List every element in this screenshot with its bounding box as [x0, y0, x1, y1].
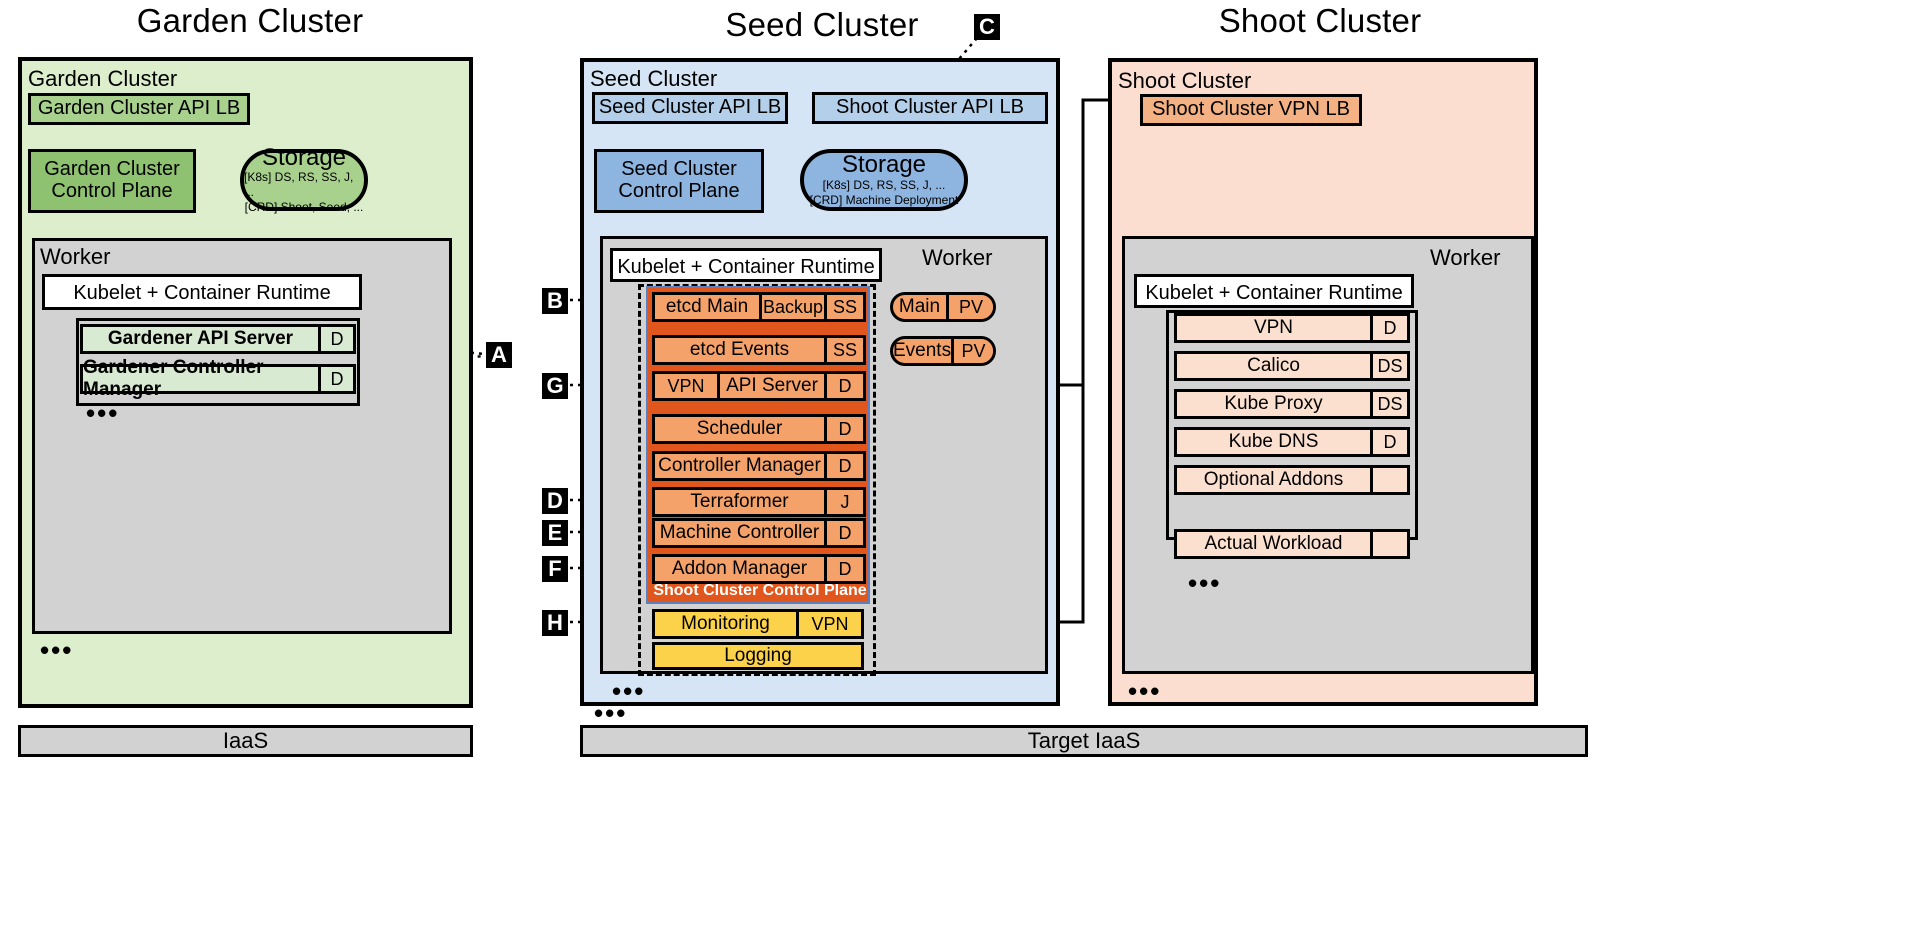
seed-pod-name: Machine Controller — [655, 521, 824, 545]
shoot-pod-row-kube-dns[interactable]: Kube DNS D — [1174, 427, 1410, 457]
shoot-control-plane-caption: Shoot Cluster Control Plane — [648, 582, 872, 600]
seed-volume-events[interactable]: Events PV — [890, 336, 996, 366]
seed-volume-name: Events — [893, 339, 951, 363]
seed-storage-title: Storage — [842, 152, 926, 177]
callout-tag-c[interactable]: C — [974, 14, 1000, 40]
shoot-pod-row-kube-proxy[interactable]: Kube Proxy DS — [1174, 389, 1410, 419]
seed-worker-label: Worker — [922, 245, 993, 271]
garden-storage-title: Storage — [262, 145, 346, 170]
seed-volume-main[interactable]: Main PV — [890, 292, 996, 322]
seed-iaas-bar: Target IaaS — [580, 725, 1588, 757]
seed-pod-row-controller-manager[interactable]: Controller Manager D — [652, 451, 866, 481]
shoot-cluster-more-dots: ••• — [1128, 686, 1161, 696]
garden-pod-more-dots: ••• — [86, 408, 119, 418]
page-title-garden: Garden Cluster — [20, 2, 480, 40]
garden-iaas-bar: IaaS — [18, 725, 473, 757]
seed-pod-row-scheduler[interactable]: Scheduler D — [652, 414, 866, 444]
seed-storage-line1: [K8s] DS, RS, SS, J, ... — [823, 178, 946, 193]
garden-control-plane-line1: Garden Cluster — [44, 159, 180, 181]
seed-pod-name: Addon Manager — [655, 557, 824, 581]
seed-volume-name: Main — [893, 295, 946, 319]
shoot-pod-kind-chip: DS — [1370, 354, 1407, 378]
garden-api-lb[interactable]: Garden Cluster API LB — [28, 93, 250, 125]
seed-storage-line2: [CRD] Machine Deployment — [810, 193, 959, 208]
callout-tag-a[interactable]: A — [486, 342, 512, 368]
garden-pod-name: Gardener Controller Manager — [83, 367, 318, 391]
seed-api-lb[interactable]: Seed Cluster API LB — [592, 92, 788, 124]
garden-control-plane-line2: Control Plane — [51, 181, 172, 203]
shoot-pod-row-optional-addons[interactable]: Optional Addons — [1174, 465, 1410, 495]
seed-pod-row-api-server[interactable]: VPN API Server D — [652, 371, 866, 401]
seed-pod-row-logging[interactable]: Logging — [652, 642, 864, 670]
seed-pod-row-addon-manager[interactable]: Addon Manager D — [652, 554, 866, 584]
seed-pod-kind-chip: D — [824, 454, 863, 478]
seed-pod-kind-chip: D — [824, 417, 863, 441]
seed-cluster-label: Seed Cluster — [590, 68, 717, 90]
callout-tag-e[interactable]: E — [542, 520, 568, 546]
shoot-worker-label: Worker — [1430, 245, 1501, 271]
page-title-shoot: Shoot Cluster — [1110, 2, 1530, 40]
seed-pod-kind-chip: D — [824, 557, 863, 581]
callout-tag-d[interactable]: D — [542, 488, 568, 514]
garden-worker-label: Worker — [40, 244, 111, 270]
seed-pod-row-etcd-main[interactable]: etcd Main Backup SS — [652, 292, 866, 322]
seed-pod-kind-chip: D — [824, 521, 863, 545]
seed-pod-name: etcd Main — [655, 295, 759, 319]
seed-pod-row-terraformer[interactable]: Terraformer J — [652, 487, 866, 517]
shoot-inner-more-dots: ••• — [1188, 578, 1221, 588]
shoot-pod-name: Kube Proxy — [1177, 392, 1370, 416]
seed-pod-kind-chip: SS — [824, 338, 863, 362]
garden-storage-line1: [K8s] DS, RS, SS, J, ... — [244, 170, 364, 200]
shoot-pod-group — [1166, 310, 1418, 540]
shoot-pod-kind-chip: D — [1370, 430, 1407, 454]
seed-outer-more-dots: ••• — [594, 708, 627, 718]
seed-inner-more-dots: ••• — [612, 686, 645, 696]
seed-volume-kind-chip: PV — [951, 339, 993, 363]
seed-pod-kind-chip: J — [824, 490, 863, 514]
garden-pod-row[interactable]: Gardener Controller Manager D — [80, 364, 356, 394]
seed-pod-kind-chip: D — [824, 374, 863, 398]
seed-pod-backup-chip: Backup — [759, 295, 824, 319]
seed-control-plane[interactable]: Seed Cluster Control Plane — [594, 149, 764, 213]
seed-pod-name: API Server — [720, 374, 824, 398]
seed-pod-row-monitoring[interactable]: Monitoring VPN — [652, 609, 864, 639]
diagram-canvas: Garden Cluster Seed Cluster Shoot Cluste… — [0, 0, 1913, 941]
shoot-pod-row-vpn[interactable]: VPN D — [1174, 313, 1410, 343]
shoot-pod-name: Optional Addons — [1177, 468, 1370, 492]
garden-pod-kind-chip: D — [318, 367, 353, 391]
shoot-pod-name: Actual Workload — [1177, 532, 1370, 556]
callout-tag-h[interactable]: H — [542, 610, 568, 636]
seed-pod-kind-chip: SS — [824, 295, 863, 319]
seed-storage[interactable]: Storage [K8s] DS, RS, SS, J, ... [CRD] M… — [800, 149, 968, 211]
seed-pod-name: Controller Manager — [655, 454, 824, 478]
garden-cluster-more-dots: ••• — [40, 645, 73, 655]
shoot-api-lb[interactable]: Shoot Cluster API LB — [812, 92, 1048, 124]
seed-pod-vpn-chip: VPN — [655, 374, 720, 398]
shoot-pod-kind-chip: D — [1370, 316, 1407, 340]
shoot-pod-kind-chip: DS — [1370, 392, 1407, 416]
shoot-kubelet-runtime: Kubelet + Container Runtime — [1134, 274, 1414, 308]
shoot-pod-row-actual-workload[interactable]: Actual Workload — [1174, 529, 1410, 559]
garden-control-plane[interactable]: Garden Cluster Control Plane — [28, 149, 196, 213]
callout-tag-f[interactable]: F — [542, 556, 568, 582]
seed-pod-name: Logging — [655, 645, 861, 667]
seed-volume-kind-chip: PV — [946, 295, 993, 319]
garden-kubelet-runtime: Kubelet + Container Runtime — [42, 274, 362, 310]
garden-storage-line2: [CRD] Shoot, Seed, ... — [245, 200, 364, 215]
seed-pod-row-etcd-events[interactable]: etcd Events SS — [652, 335, 866, 365]
garden-pod-kind-chip: D — [318, 327, 353, 351]
shoot-pod-name: Kube DNS — [1177, 430, 1370, 454]
shoot-pod-name: Calico — [1177, 354, 1370, 378]
seed-control-plane-line2: Control Plane — [618, 181, 739, 203]
shoot-pod-kind-chip — [1370, 532, 1407, 556]
callout-tag-g[interactable]: G — [542, 373, 568, 399]
garden-cluster-label: Garden Cluster — [28, 68, 177, 90]
garden-storage[interactable]: Storage [K8s] DS, RS, SS, J, ... [CRD] S… — [240, 149, 368, 211]
shoot-pod-name: VPN — [1177, 316, 1370, 340]
garden-pod-name: Gardener API Server — [83, 327, 318, 351]
shoot-vpn-lb[interactable]: Shoot Cluster VPN LB — [1140, 94, 1362, 126]
seed-pod-name: Scheduler — [655, 417, 824, 441]
seed-pod-name: Monitoring — [655, 612, 796, 636]
seed-pod-vpn-chip: VPN — [796, 612, 861, 636]
seed-kubelet-runtime: Kubelet + Container Runtime — [610, 248, 882, 282]
seed-pod-row-machine-controller[interactable]: Machine Controller D — [652, 518, 866, 548]
shoot-pod-row-calico[interactable]: Calico DS — [1174, 351, 1410, 381]
callout-tag-b[interactable]: B — [542, 288, 568, 314]
seed-pod-name: etcd Events — [655, 338, 824, 362]
garden-pod-row[interactable]: Gardener API Server D — [80, 324, 356, 354]
shoot-pod-kind-chip — [1370, 468, 1407, 492]
seed-control-plane-line1: Seed Cluster — [621, 159, 737, 181]
shoot-cluster-label: Shoot Cluster — [1118, 70, 1251, 92]
seed-pod-name: Terraformer — [655, 490, 824, 514]
